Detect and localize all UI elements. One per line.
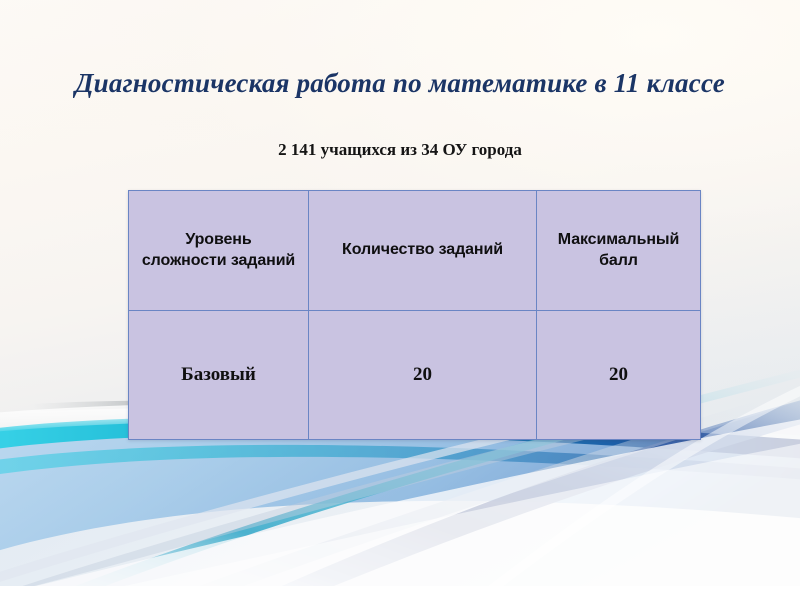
cell-max-score: 20 (537, 311, 701, 440)
table-header-row: Уровень сложности заданий Количество зад… (129, 191, 701, 311)
column-header-max-score: Максимальный балл (537, 191, 701, 311)
column-header-max-score-line1: Максимальный (545, 230, 692, 250)
column-header-task-count: Количество заданий (309, 191, 537, 311)
difficulty-levels-table: Уровень сложности заданий Количество зад… (128, 190, 701, 440)
table-row: Базовый 20 20 (129, 311, 701, 440)
page-title: Диагностическая работа по математике в 1… (0, 68, 800, 99)
slide-canvas: Диагностическая работа по математике в 1… (0, 0, 800, 600)
column-header-task-count-line1: Количество заданий (317, 240, 528, 260)
column-header-level-line2: сложности заданий (137, 251, 300, 271)
column-header-level: Уровень сложности заданий (129, 191, 309, 311)
column-header-level-line1: Уровень (137, 230, 300, 250)
page-subtitle: 2 141 учащихся из 34 ОУ города (0, 140, 800, 160)
cell-level: Базовый (129, 311, 309, 440)
column-header-max-score-line2: балл (545, 251, 692, 271)
cell-task-count: 20 (309, 311, 537, 440)
